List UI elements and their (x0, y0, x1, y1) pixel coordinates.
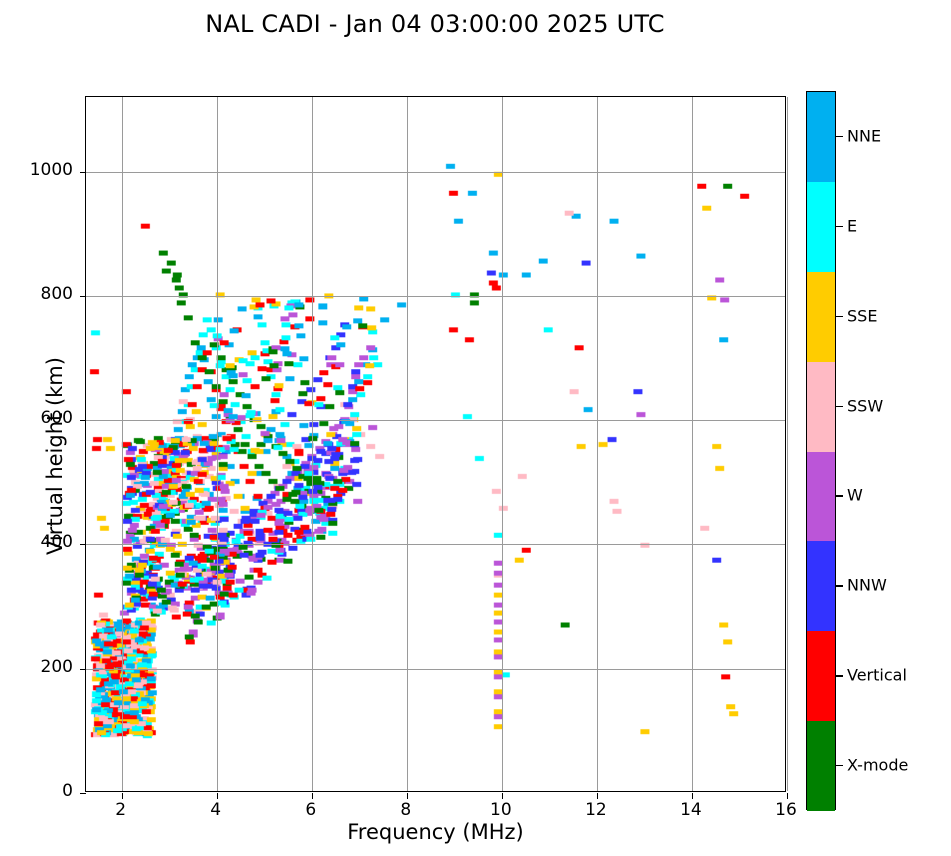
colorbar-tick (836, 495, 843, 496)
colorbar-label-sse: SSE (847, 306, 877, 325)
y-tick-label: 0 (1, 781, 73, 801)
gridline-vertical (692, 97, 693, 791)
gridline-vertical (217, 97, 218, 791)
x-tick (787, 793, 788, 799)
scatter-canvas (86, 97, 785, 791)
x-tick-label: 12 (566, 800, 626, 820)
x-tick (122, 793, 123, 799)
gridline-vertical (312, 97, 313, 791)
colorbar-tick (836, 136, 843, 137)
colorbar-tick (836, 675, 843, 676)
x-tick-label: 4 (186, 800, 246, 820)
y-tick (80, 544, 86, 545)
colorbar-segment-vertical (807, 631, 835, 721)
gridline-vertical (597, 97, 598, 791)
gridline-vertical (787, 97, 788, 791)
x-tick-label: 2 (91, 800, 151, 820)
x-tick (597, 793, 598, 799)
colorbar-segment-x-mode (807, 721, 835, 811)
colorbar-segment-nne (807, 92, 835, 182)
colorbar-tick (836, 226, 843, 227)
colorbar-label-w: W (847, 486, 863, 505)
ionogram-figure: NAL CADI - Jan 04 03:00:00 2025 UTC 2468… (0, 0, 951, 856)
plot-area (85, 96, 786, 792)
colorbar-tick (836, 765, 843, 766)
gridline-horizontal (86, 669, 785, 670)
colorbar-tick (836, 585, 843, 586)
colorbar-label-ssw: SSW (847, 396, 883, 415)
y-tick (80, 793, 86, 794)
x-tick-label: 8 (376, 800, 436, 820)
y-tick (80, 296, 86, 297)
y-tick (80, 172, 86, 173)
y-tick (80, 669, 86, 670)
colorbar-tick (836, 406, 843, 407)
x-tick (217, 793, 218, 799)
gridline-vertical (502, 97, 503, 791)
gridline-vertical (122, 97, 123, 791)
colorbar-segment-ssw (807, 362, 835, 452)
colorbar-segment-e (807, 182, 835, 272)
x-tick (692, 793, 693, 799)
x-tick (407, 793, 408, 799)
y-tick-label: 1000 (1, 160, 73, 180)
gridline-horizontal (86, 544, 785, 545)
colorbar-segment-sse (807, 272, 835, 362)
x-tick-label: 6 (281, 800, 341, 820)
x-tick (312, 793, 313, 799)
colorbar-label-nne: NNE (847, 126, 881, 145)
x-tick-label: 14 (661, 800, 721, 820)
gridline-horizontal (86, 172, 785, 173)
colorbar (806, 91, 836, 810)
x-axis-label: Frequency (MHz) (85, 820, 786, 844)
gridline-horizontal (86, 420, 785, 421)
colorbar-segment-nnw (807, 541, 835, 631)
colorbar-label-e: E (847, 216, 857, 235)
colorbar-label-vertical: Vertical (847, 666, 907, 685)
x-tick-label: 10 (471, 800, 531, 820)
colorbar-tick (836, 316, 843, 317)
x-tick (502, 793, 503, 799)
gridline-vertical (407, 97, 408, 791)
colorbar-segment-w (807, 452, 835, 542)
y-tick (80, 420, 86, 421)
y-axis-label: Virtual height (km) (43, 246, 67, 666)
page-title: NAL CADI - Jan 04 03:00:00 2025 UTC (0, 10, 870, 38)
colorbar-label-nnw: NNW (847, 576, 887, 595)
colorbar-label-x-mode: X-mode (847, 756, 908, 775)
gridline-horizontal (86, 296, 785, 297)
